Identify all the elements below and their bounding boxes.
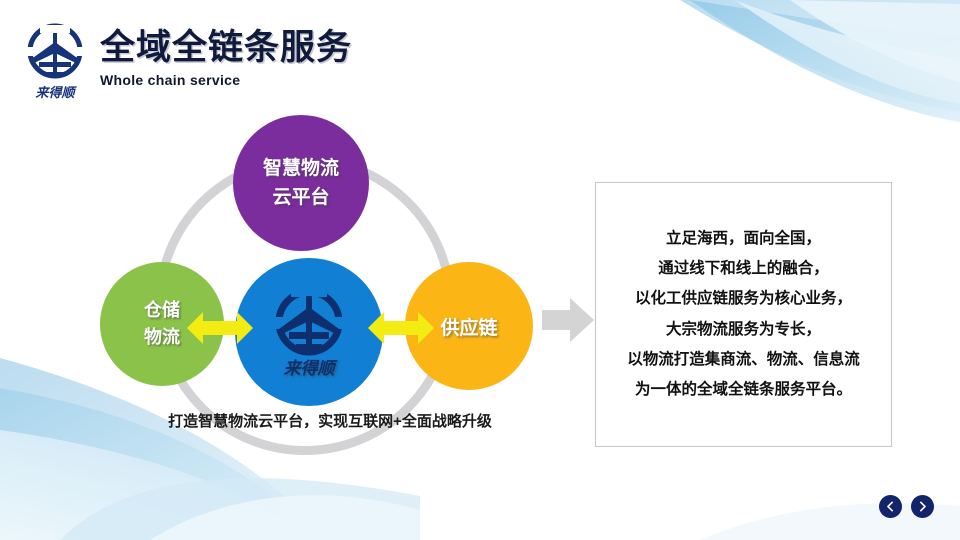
venn-ring-diagram: 智慧物流 云平台 仓储 物流 供应链 <box>100 110 560 485</box>
description-panel: 立足海西，面向全国， 通过线下和线上的融合， 以化工供应链服务为核心业务， 大宗… <box>595 182 892 447</box>
diagram-caption: 打造智慧物流云平台，实现互联网+全面战略升级 <box>110 410 550 431</box>
slide-navigation <box>879 495 934 518</box>
chevron-left-icon <box>885 501 896 512</box>
chevron-right-icon <box>917 501 928 512</box>
logo-wordmark: 来得顺 <box>35 85 77 100</box>
diagram-node-cloud-platform[interactable]: 智慧物流 云平台 <box>233 115 369 251</box>
slide-header: 来得顺 全域全链条服务 Whole chain service <box>22 18 352 102</box>
description-line-6: 为一体的全域全链条服务平台。 <box>627 375 860 405</box>
description-line-5: 以物流打造集商流、物流、信息流 <box>627 345 860 375</box>
double-headed-arrow-icon-left <box>187 308 253 348</box>
laideshun-steering-wheel-logo-icon: 来得顺 <box>22 20 88 102</box>
right-arrow-icon <box>540 292 596 348</box>
description-line-3: 以化工供应链服务为核心业务， <box>627 284 860 314</box>
description-line-1: 立足海西，面向全国， <box>627 224 860 254</box>
node-supply-line-1: 供应链 <box>440 313 497 340</box>
node-warehouse-line-1: 仓储 <box>144 297 180 324</box>
title-group: 全域全链条服务 Whole chain service <box>100 30 352 88</box>
laideshun-steering-wheel-logo-icon: 来得顺 <box>261 284 357 380</box>
node-cloud-line-2: 云平台 <box>272 183 329 212</box>
description-text: 立足海西，面向全国， 通过线下和线上的融合， 以化工供应链服务为核心业务， 大宗… <box>627 224 860 405</box>
double-headed-arrow-icon-right <box>368 308 434 348</box>
next-slide-button[interactable] <box>911 495 934 518</box>
node-warehouse-line-2: 物流 <box>144 324 180 351</box>
page-subtitle: Whole chain service <box>100 72 352 88</box>
previous-slide-button[interactable] <box>879 495 902 518</box>
diagram-node-center-brand[interactable]: 来得顺 <box>235 258 383 406</box>
slide-canvas: 来得顺 全域全链条服务 Whole chain service 智慧物流 云平台… <box>0 0 960 540</box>
description-line-4: 大宗物流服务为专长， <box>627 315 860 345</box>
description-line-2: 通过线下和线上的融合， <box>627 254 860 284</box>
center-logo-wordmark: 来得顺 <box>284 359 339 378</box>
node-cloud-line-1: 智慧物流 <box>263 154 339 183</box>
page-title: 全域全链条服务 <box>100 30 352 65</box>
decorative-wave-top-right <box>540 0 960 200</box>
